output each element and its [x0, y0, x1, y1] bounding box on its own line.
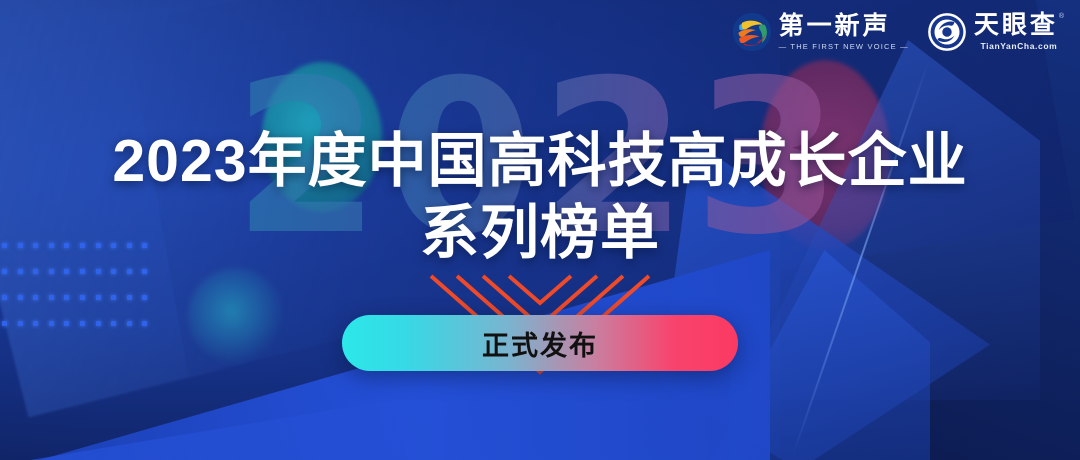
- grid-dot: [2, 295, 7, 300]
- grid-dot: [96, 321, 101, 326]
- grid-dot: [111, 321, 116, 326]
- grid-dot: [64, 295, 69, 300]
- logo-tianyancha-name-wrap: 天眼查 ®: [974, 13, 1064, 38]
- release-status-label: 正式发布: [482, 324, 598, 363]
- grid-dot: [142, 321, 147, 326]
- grid-dot: [127, 295, 132, 300]
- grid-dot: [142, 295, 147, 300]
- grid-dot: [49, 321, 54, 326]
- logo-group: 第一新声 — THE FIRST NEW VOICE — 天眼查 ®: [732, 12, 1064, 52]
- headline-line-1: 2023年度中国高科技高成长企业: [0, 126, 1080, 196]
- swirl-globe-icon: [732, 12, 772, 52]
- grid-dot: [33, 321, 38, 326]
- logo-tianyancha-name: 天眼查: [974, 13, 1058, 38]
- grid-dot: [80, 321, 85, 326]
- grid-dot: [64, 321, 69, 326]
- registered-trademark-mark: ®: [1059, 13, 1064, 20]
- grid-dot: [18, 295, 23, 300]
- grid-dot: [18, 321, 23, 326]
- grid-dot: [49, 295, 54, 300]
- promo-banner: 2023 2023年度中国高科技高成长企业 系列榜单 正式发布: [0, 0, 1080, 460]
- logo-tianyancha-tagline: TianYanCha.com: [974, 42, 1064, 51]
- grid-dot: [111, 295, 116, 300]
- logo-tianyancha-text: 天眼查 ® TianYanCha.com: [974, 13, 1064, 51]
- logo-diyixinsheng-tagline: — THE FIRST NEW VOICE —: [779, 43, 909, 51]
- aperture-eye-icon: [927, 12, 967, 52]
- grid-dot: [127, 321, 132, 326]
- page-title: 2023年度中国高科技高成长企业 系列榜单: [0, 126, 1080, 270]
- logo-diyixinsheng-text: 第一新声 — THE FIRST NEW VOICE —: [779, 14, 909, 51]
- teal-blob-shape-2: [188, 268, 284, 364]
- grid-dot: [2, 321, 7, 326]
- logo-diyixinsheng-name: 第一新声: [779, 14, 909, 39]
- logo-diyixinsheng[interactable]: 第一新声 — THE FIRST NEW VOICE —: [732, 12, 909, 52]
- headline-line-2: 系列榜单: [0, 196, 1080, 270]
- release-status-badge[interactable]: 正式发布: [342, 315, 738, 371]
- logo-tianyancha[interactable]: 天眼查 ® TianYanCha.com: [927, 12, 1064, 52]
- grid-dot: [80, 295, 85, 300]
- grid-dot: [33, 295, 38, 300]
- grid-dot: [96, 295, 101, 300]
